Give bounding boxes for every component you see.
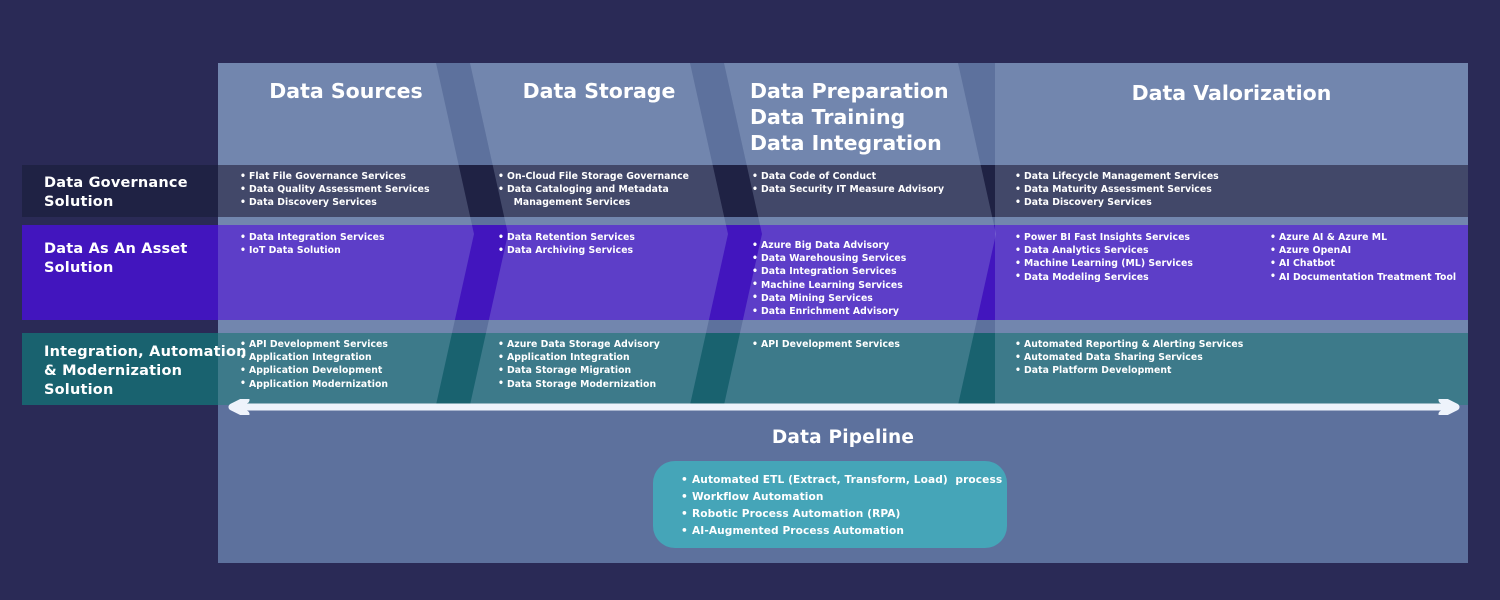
list-item: Data Integration Services <box>752 265 967 278</box>
pipeline-box: Automated ETL (Extract, Transform, Load)… <box>653 461 1007 548</box>
list-item: AI Documentation Treatment Tool <box>1270 271 1470 284</box>
cell-preparation-asset: Azure Big Data AdvisoryData Warehousing … <box>752 239 967 318</box>
cell-preparation-governance: Data Code of ConductData Security IT Mea… <box>752 170 982 196</box>
list-item: Azure OpenAI <box>1270 244 1470 257</box>
list-item: IoT Data Solution <box>240 244 450 257</box>
list-item: Workflow Automation <box>681 489 1007 506</box>
list-item: Data Maturity Assessment Services <box>1015 183 1275 196</box>
list-item: Application Integration <box>498 351 713 364</box>
list-item: Data Security IT Measure Advisory <box>752 183 982 196</box>
list-item: Data Discovery Services <box>1015 196 1275 209</box>
list-item: Machine Learning (ML) Services <box>1015 257 1255 270</box>
cell-storage-governance: On-Cloud File Storage GovernanceData Cat… <box>498 170 718 210</box>
list-item: Data Lifecycle Management Services <box>1015 170 1275 183</box>
list-item: Application Integration <box>240 351 450 364</box>
list-item: Data Platform Development <box>1015 364 1295 377</box>
list-item: Data Mining Services <box>752 292 967 305</box>
list-item: Application Modernization <box>240 378 450 391</box>
cell-sources-governance: Flat File Governance ServicesData Qualit… <box>240 170 450 210</box>
flow-arrow <box>222 399 1466 415</box>
list-item: Data Retention Services <box>498 231 708 244</box>
list-item: Automated Reporting & Alerting Services <box>1015 338 1295 351</box>
cell-valorization-asset: Power BI Fast Insights ServicesData Anal… <box>1015 231 1255 284</box>
list-item: Data Archiving Services <box>498 244 708 257</box>
cell-storage-integration: Azure Data Storage AdvisoryApplication I… <box>498 338 713 391</box>
diagram-root: Data Sources Data Storage Data Preparati… <box>0 0 1500 600</box>
list-item: Automated ETL (Extract, Transform, Load)… <box>681 472 1007 489</box>
list-item: Machine Learning Services <box>752 279 967 292</box>
cell-preparation-integration: API Development Services <box>752 338 972 351</box>
cell-sources-integration: API Development ServicesApplication Inte… <box>240 338 450 391</box>
column-data-preparation <box>724 63 996 405</box>
pipeline-title: Data Pipeline <box>218 427 1468 448</box>
list-item: Automated Data Sharing Services <box>1015 351 1295 364</box>
list-item: Data Analytics Services <box>1015 244 1255 257</box>
list-item: Data Discovery Services <box>240 196 450 209</box>
list-item: API Development Services <box>240 338 450 351</box>
list-item: Application Development <box>240 364 450 377</box>
list-item: Data Storage Migration <box>498 364 713 377</box>
list-item: Data Code of Conduct <box>752 170 982 183</box>
list-item: Data Enrichment Advisory <box>752 305 967 318</box>
list-item: Data Integration Services <box>240 231 450 244</box>
list-item: Data Cataloging and Metadata Management … <box>498 183 718 209</box>
list-item: AI Chatbot <box>1270 257 1470 270</box>
list-item: Azure AI & Azure ML <box>1270 231 1470 244</box>
list-item: Flat File Governance Services <box>240 170 450 183</box>
list-item: Data Warehousing Services <box>752 252 967 265</box>
list-item: Data Storage Modernization <box>498 378 713 391</box>
row-label-asset: Data As An Asset Solution <box>44 240 188 278</box>
list-item: Robotic Process Automation (RPA) <box>681 506 1007 523</box>
list-item: Data Modeling Services <box>1015 271 1255 284</box>
list-item: AI-Augmented Process Automation <box>681 523 1007 540</box>
cell-sources-asset: Data Integration ServicesIoT Data Soluti… <box>240 231 450 257</box>
list-item: Data Quality Assessment Services <box>240 183 450 196</box>
list-item: On-Cloud File Storage Governance <box>498 170 718 183</box>
list-item: API Development Services <box>752 338 972 351</box>
cell-valorization-integration: Automated Reporting & Alerting ServicesA… <box>1015 338 1295 378</box>
cell-valorization-governance: Data Lifecycle Management ServicesData M… <box>1015 170 1275 210</box>
cell-valorization-asset-secondary: Azure AI & Azure MLAzure OpenAIAI Chatbo… <box>1270 231 1470 284</box>
list-item: Azure Data Storage Advisory <box>498 338 713 351</box>
row-label-integration: Integration, Automation & Modernization … <box>44 343 247 400</box>
cell-storage-asset: Data Retention ServicesData Archiving Se… <box>498 231 708 257</box>
row-label-governance: Data Governance Solution <box>44 174 188 212</box>
list-item: Azure Big Data Advisory <box>752 239 967 252</box>
list-item: Power BI Fast Insights Services <box>1015 231 1255 244</box>
